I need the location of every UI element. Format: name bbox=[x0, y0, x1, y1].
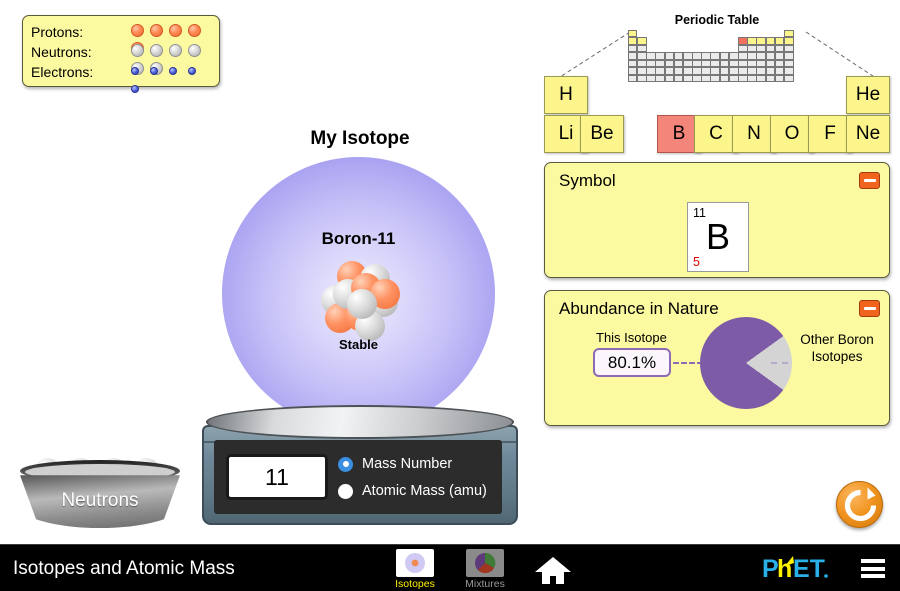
element-symbol: H bbox=[559, 84, 573, 106]
symbol-proton-number: 5 bbox=[693, 255, 700, 269]
atom-thumb-icon bbox=[396, 549, 434, 577]
symbol-panel-collapse-button[interactable] bbox=[859, 172, 880, 189]
radio-unselected-icon bbox=[338, 484, 353, 499]
tab-label-mixtures: Mixtures bbox=[465, 578, 505, 590]
legend-dots-protons bbox=[131, 22, 219, 42]
element-symbol: Li bbox=[559, 123, 574, 145]
legend-proton-dot bbox=[150, 24, 163, 37]
element-symbol-box: 11 B 5 bbox=[687, 202, 749, 272]
stability-label: Stable bbox=[222, 337, 495, 352]
element-symbol: Ne bbox=[856, 123, 880, 145]
home-button[interactable] bbox=[534, 555, 572, 585]
pie-connector-left bbox=[673, 362, 703, 364]
element-symbol: Be bbox=[590, 123, 613, 145]
abundance-panel-title: Abundance in Nature bbox=[559, 299, 719, 319]
reset-circular-arrow-icon bbox=[837, 482, 884, 529]
minus-icon bbox=[864, 307, 876, 310]
legend-proton-dot bbox=[131, 24, 144, 37]
phet-logo[interactable]: P h ET bbox=[762, 556, 854, 582]
tab-isotopes[interactable]: Isotopes bbox=[392, 549, 438, 590]
symbol-element-letter: B bbox=[688, 217, 748, 257]
legend-dots-electrons bbox=[131, 62, 219, 82]
legend-proton-dot bbox=[169, 24, 182, 37]
reset-all-button[interactable] bbox=[836, 481, 883, 528]
legend-electron-dot bbox=[169, 67, 177, 75]
mini-table-cell[interactable] bbox=[784, 45, 794, 53]
legend-neutron-dot bbox=[169, 44, 182, 57]
phet-logo-icon: P h ET bbox=[762, 556, 854, 582]
legend-label-protons: Protons: bbox=[31, 22, 83, 42]
mini-table-cell[interactable] bbox=[784, 30, 794, 38]
scale-weighing-plate bbox=[206, 405, 514, 439]
mini-table-cell[interactable] bbox=[784, 75, 794, 83]
element-tile-H[interactable]: H bbox=[544, 76, 588, 114]
element-tile-He[interactable]: He bbox=[846, 76, 890, 114]
scale-display: 11 Mass Number Atomic Mass (amu) bbox=[214, 440, 502, 514]
pie-connector-right bbox=[771, 362, 788, 364]
simulation-title: Isotopes and Atomic Mass bbox=[13, 558, 235, 580]
legend-row-neutrons: Neutrons: bbox=[23, 42, 219, 62]
element-symbol: N bbox=[747, 123, 761, 145]
legend-row-electrons: Electrons: bbox=[23, 62, 219, 82]
legend-neutron-dot bbox=[150, 44, 163, 57]
legend-electron-dot bbox=[188, 67, 196, 75]
legend-row-protons: Protons: bbox=[23, 22, 219, 42]
atom-scale: 11 Mass Number Atomic Mass (amu) bbox=[198, 405, 522, 533]
periodic-table-title: Periodic Table bbox=[544, 13, 890, 27]
abundance-panel: Abundance in Nature This Isotope 80.1% O… bbox=[544, 290, 890, 426]
radio-atomic-mass[interactable]: Atomic Mass (amu) bbox=[338, 479, 487, 503]
element-symbol: C bbox=[709, 123, 723, 145]
element-symbol: He bbox=[856, 84, 880, 106]
legend-neutron-dot bbox=[188, 44, 201, 57]
pie-thumb-icon bbox=[466, 549, 504, 577]
nucleon-neutron bbox=[347, 289, 377, 319]
atom-nucleus[interactable] bbox=[315, 261, 405, 341]
hamburger-menu-button[interactable] bbox=[861, 559, 885, 578]
navigation-bar: Isotopes and Atomic Mass Isotopes Mixtur… bbox=[0, 544, 900, 591]
legend-label-electrons: Electrons: bbox=[31, 62, 93, 82]
legend-neutron-dot bbox=[131, 44, 144, 57]
svg-text:ET: ET bbox=[793, 556, 825, 582]
abundance-panel-collapse-button[interactable] bbox=[859, 300, 880, 317]
abundance-readout: 80.1% bbox=[593, 348, 671, 377]
tab-label-isotopes: Isotopes bbox=[395, 578, 435, 590]
element-tile-Ne[interactable]: Ne bbox=[846, 115, 890, 153]
radio-mass-number[interactable]: Mass Number bbox=[338, 452, 452, 476]
mini-table-cell[interactable] bbox=[784, 37, 794, 45]
mini-table-cell[interactable] bbox=[784, 60, 794, 68]
radio-selected-icon bbox=[338, 457, 353, 472]
element-symbol: O bbox=[785, 123, 800, 145]
radio-label-mass-number: Mass Number bbox=[362, 456, 452, 472]
mini-table-row bbox=[628, 75, 793, 83]
particle-legend-panel: Protons: Neutrons: Electrons: bbox=[22, 15, 220, 87]
atom-name-label: Boron-11 bbox=[222, 229, 495, 249]
mass-readout: 11 bbox=[226, 454, 328, 500]
element-tile-Be[interactable]: Be bbox=[580, 115, 624, 153]
legend-label-neutrons: Neutrons: bbox=[31, 42, 92, 62]
element-symbol: F bbox=[824, 123, 836, 145]
other-isotopes-label: Other Boron Isotopes bbox=[792, 331, 882, 365]
legend-proton-dot bbox=[188, 24, 201, 37]
legend-electron-dot bbox=[150, 67, 158, 75]
mini-table-cell[interactable] bbox=[784, 67, 794, 75]
radio-label-atomic-mass: Atomic Mass (amu) bbox=[362, 483, 487, 499]
this-isotope-label: This Isotope bbox=[596, 330, 667, 345]
simulation-stage: Protons: Neutrons: Electrons: My Isotope… bbox=[0, 0, 900, 591]
mini-periodic-table[interactable] bbox=[628, 30, 793, 83]
legend-electron-dot bbox=[131, 67, 139, 75]
electron-cloud[interactable]: Boron-11 Stable bbox=[222, 157, 495, 430]
minus-icon bbox=[864, 179, 876, 182]
hamburger-menu-icon bbox=[861, 559, 885, 563]
tab-mixtures[interactable]: Mixtures bbox=[462, 549, 508, 590]
bucket-label: Neutrons bbox=[20, 490, 180, 512]
legend-dots-neutrons bbox=[131, 42, 219, 62]
home-icon bbox=[534, 555, 572, 585]
symbol-panel: Symbol 11 B 5 bbox=[544, 162, 890, 278]
symbol-panel-title: Symbol bbox=[559, 171, 616, 191]
legend-electron-dot bbox=[131, 85, 139, 93]
mini-table-cell[interactable] bbox=[784, 52, 794, 60]
neutron-bucket[interactable]: Neutrons bbox=[20, 458, 180, 530]
element-symbol: B bbox=[673, 123, 686, 145]
